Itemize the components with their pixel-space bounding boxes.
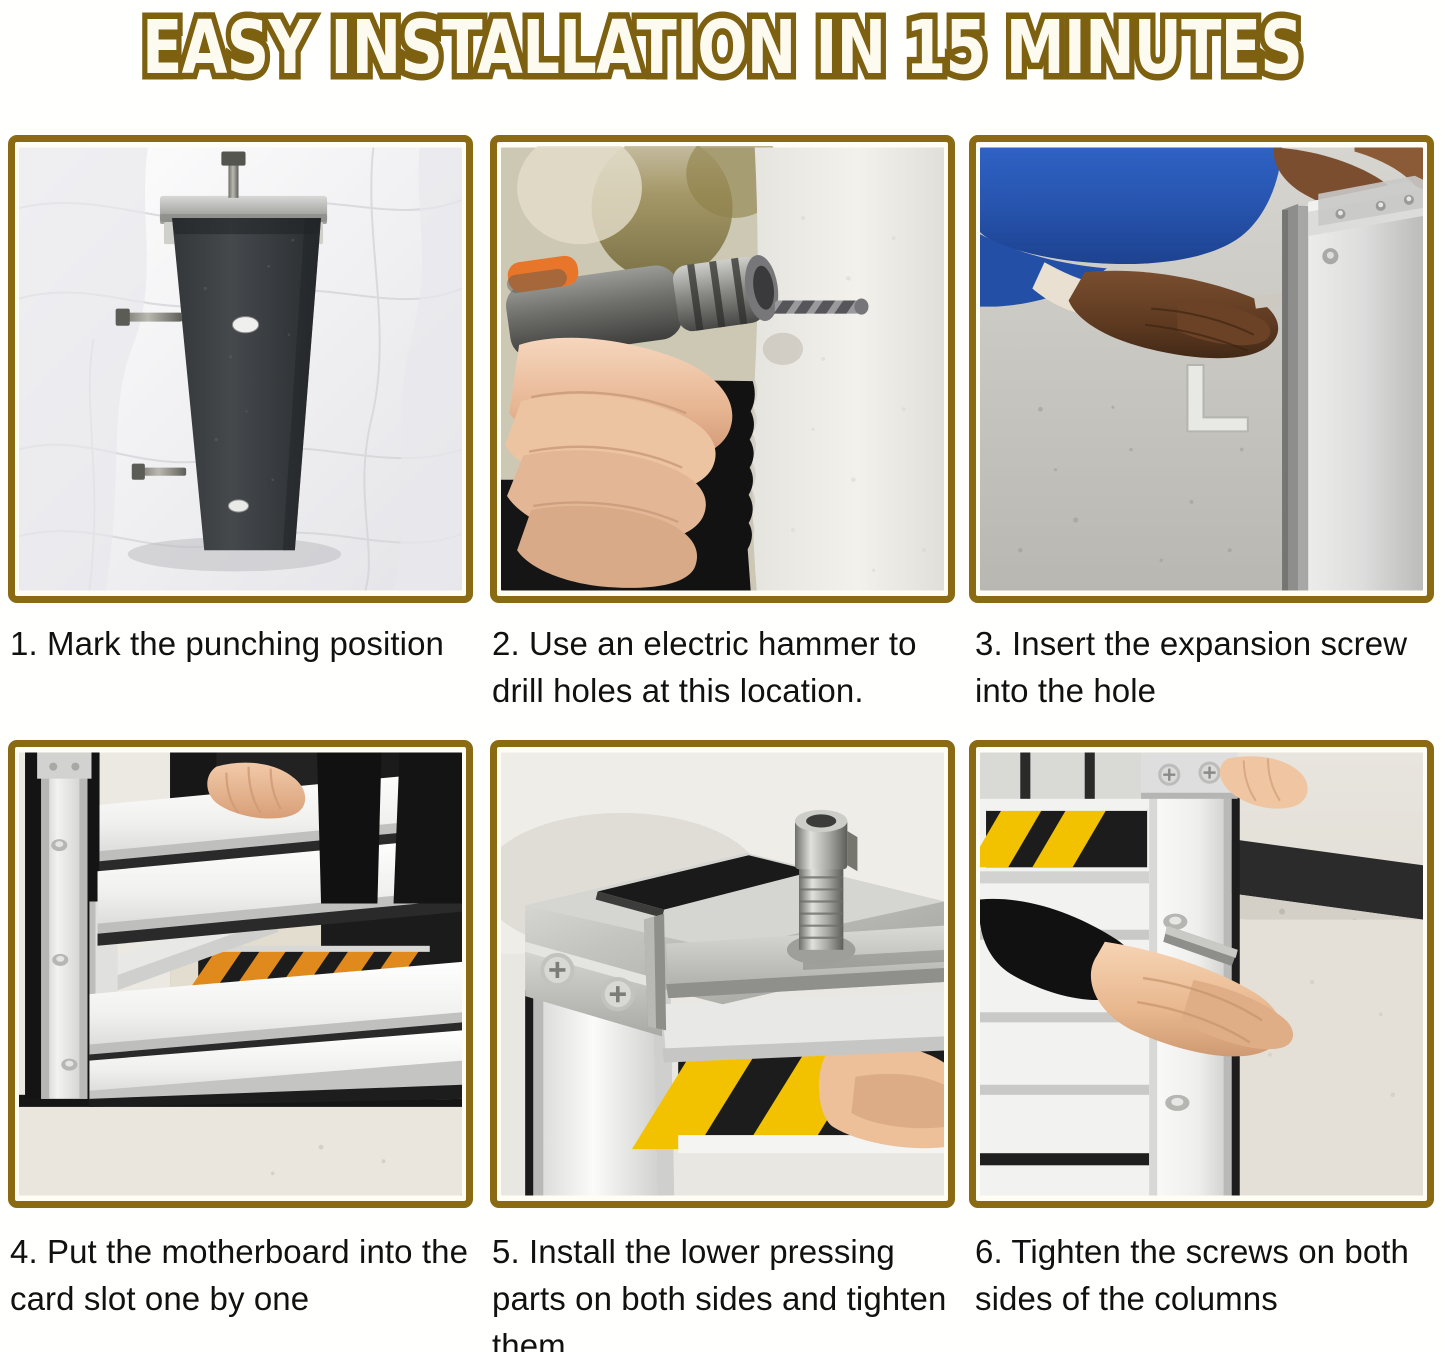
page-title-banner: EASY INSTALLATION IN 15 MINUTES	[0, 0, 1445, 96]
photo-drill-holes	[501, 146, 944, 592]
photo-frame-2	[490, 135, 955, 603]
photo-frame-5	[490, 740, 955, 1208]
step-caption-5: 5. Install the lower pressing parts on b…	[492, 1228, 962, 1352]
step-caption-3: 3. Insert the expansion screw into the h…	[975, 620, 1445, 714]
step-card-1	[8, 135, 473, 603]
step-card-2	[490, 135, 955, 603]
photo-frame-6	[969, 740, 1434, 1208]
step-card-5	[490, 740, 955, 1208]
step-card-4	[8, 740, 473, 1208]
step-caption-4: 4. Put the motherboard into the card slo…	[10, 1228, 480, 1322]
photo-insert-boards-into-slot	[19, 751, 462, 1197]
step-caption-2: 2. Use an electric hammer to drill holes…	[492, 620, 962, 714]
photo-frame-1	[8, 135, 473, 603]
photo-install-pressing-parts	[501, 751, 944, 1197]
photo-frame-3	[969, 135, 1434, 603]
step-card-6	[969, 740, 1434, 1208]
page-title: EASY INSTALLATION IN 15 MINUTES	[142, 11, 1302, 85]
step-card-3	[969, 135, 1434, 603]
photo-mark-punching-position	[19, 146, 462, 592]
photo-tighten-column-screws	[980, 751, 1423, 1197]
step-caption-1: 1. Mark the punching position	[10, 620, 480, 667]
photo-frame-4	[8, 740, 473, 1208]
photo-insert-expansion-screw	[980, 146, 1423, 592]
step-caption-6: 6. Tighten the screws on both sides of t…	[975, 1228, 1445, 1322]
installation-guide-page: EASY INSTALLATION IN 15 MINUTES	[0, 0, 1445, 1352]
